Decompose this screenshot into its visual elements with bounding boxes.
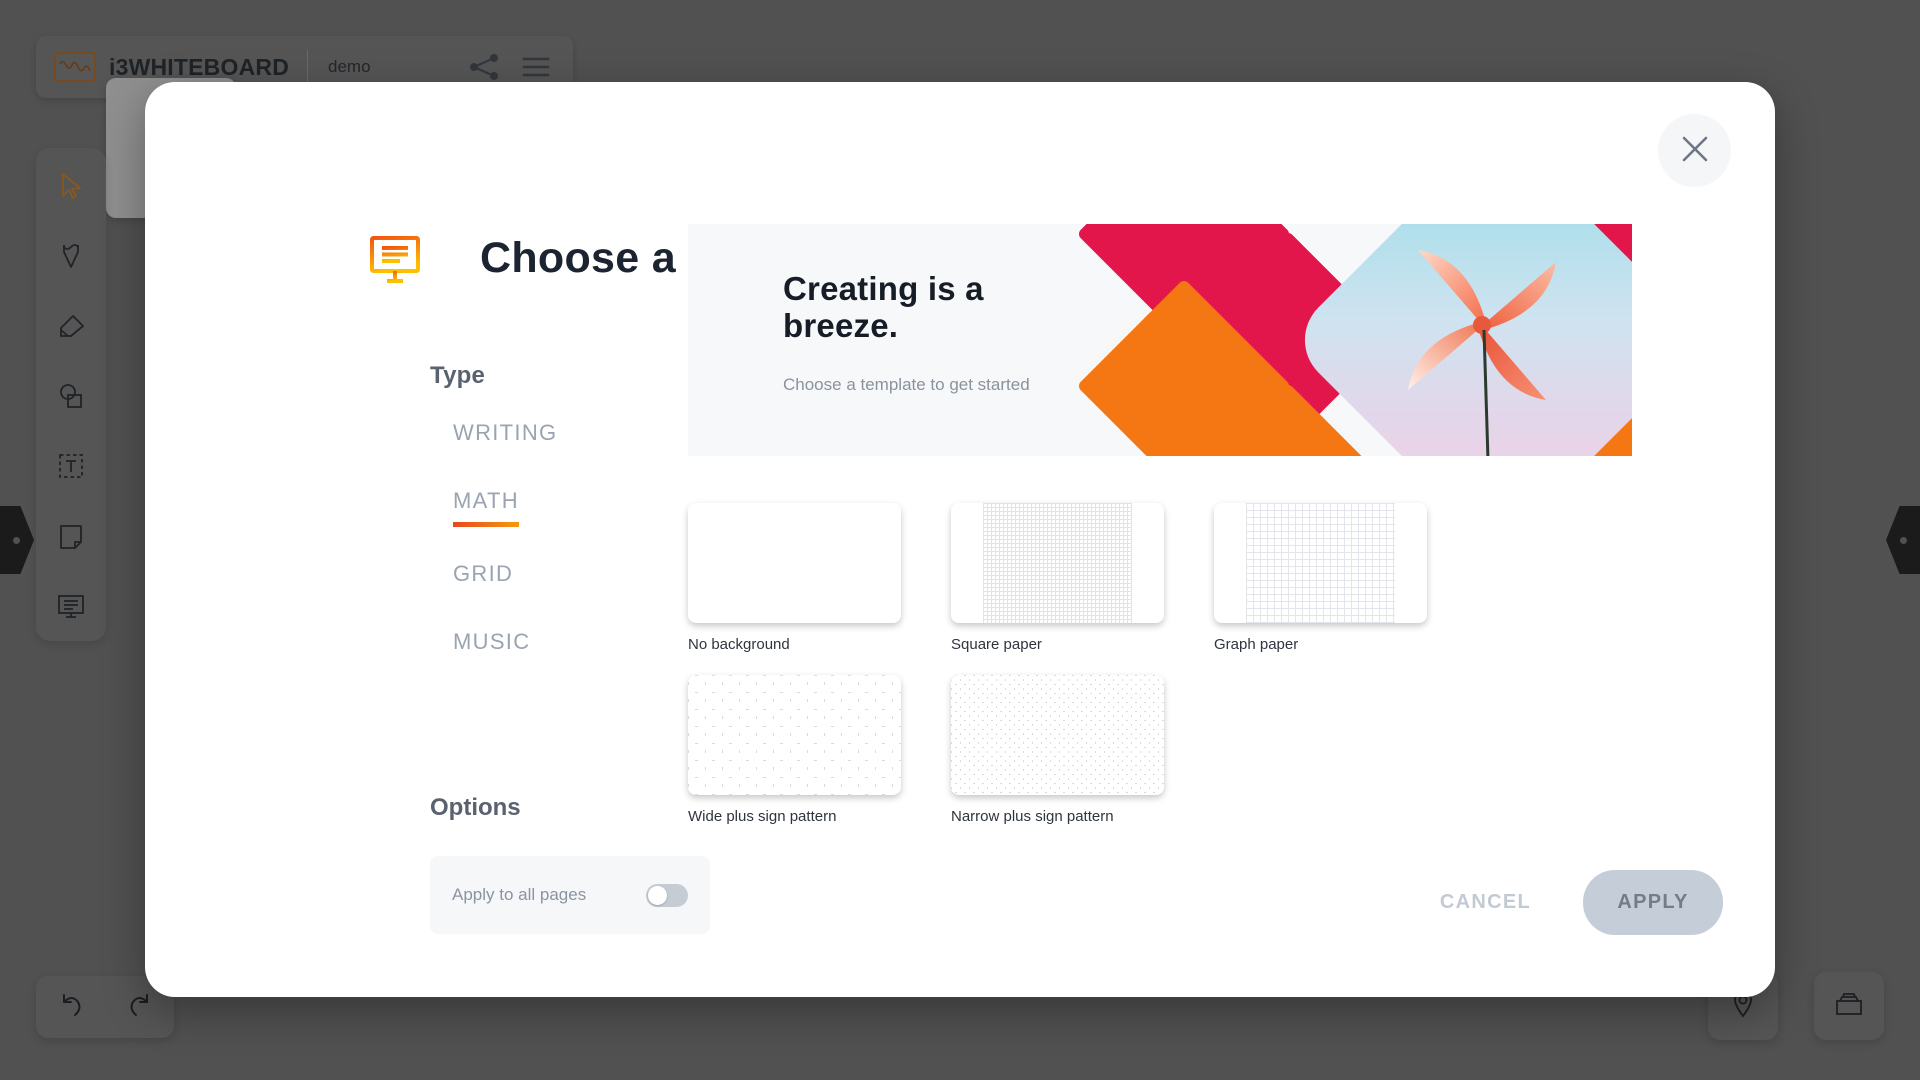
template-cell: Square paper <box>951 503 1164 653</box>
type-list: WRITING MATH GRID MUSIC <box>145 420 565 663</box>
screen: i3WHITEBOARD demo <box>0 0 1920 1080</box>
type-item-math[interactable]: MATH <box>453 488 519 527</box>
templates-panel: Creating is a breeze. Choose a template … <box>688 224 1688 847</box>
pattern-area <box>1246 503 1395 623</box>
template-label: Graph paper <box>1214 636 1427 653</box>
template-label: Wide plus sign pattern <box>688 808 901 825</box>
template-label: Square paper <box>951 636 1164 653</box>
promo-banner: Creating is a breeze. Choose a template … <box>688 224 1632 456</box>
template-cell: Wide plus sign pattern <box>688 675 901 825</box>
template-cell: Narrow plus sign pattern <box>951 675 1164 825</box>
template-label: No background <box>688 636 901 653</box>
close-x-icon <box>1678 132 1712 169</box>
dialog-footer: CANCEL APPLY <box>1416 870 1723 935</box>
choose-flavor-dialog: Choose a flavor Type WRITING MATH GRID M… <box>145 82 1775 997</box>
apply-button[interactable]: APPLY <box>1583 870 1723 935</box>
presentation-screen-icon <box>368 234 422 291</box>
template-narrow-plus-sign[interactable] <box>951 675 1164 795</box>
banner-subtitle: Choose a template to get started <box>783 374 1043 397</box>
pinwheel-graphic <box>1388 232 1578 456</box>
template-cell: Graph paper <box>1214 503 1427 653</box>
pattern-area <box>688 675 901 795</box>
apply-to-all-pages-label: Apply to all pages <box>452 885 586 905</box>
template-label: Narrow plus sign pattern <box>951 808 1164 825</box>
type-section: Type WRITING MATH GRID MUSIC <box>145 362 565 697</box>
pattern-area <box>951 675 1164 795</box>
template-cell: No background <box>688 503 901 653</box>
cancel-button[interactable]: CANCEL <box>1416 875 1555 930</box>
type-item-grid[interactable]: GRID <box>453 561 513 595</box>
template-no-background[interactable] <box>688 503 901 623</box>
pattern-area <box>983 503 1132 623</box>
template-square-paper[interactable] <box>951 503 1164 623</box>
banner-title: Creating is a breeze. <box>783 271 1073 345</box>
type-heading: Type <box>430 362 565 390</box>
toggle-knob <box>648 886 667 905</box>
apply-to-all-pages-row: Apply to all pages <box>430 856 710 934</box>
apply-to-all-pages-toggle[interactable] <box>646 884 688 907</box>
options-section: Options Apply to all pages <box>145 794 765 934</box>
close-button[interactable] <box>1658 114 1731 187</box>
template-graph-paper[interactable] <box>1214 503 1427 623</box>
type-item-writing[interactable]: WRITING <box>453 420 557 454</box>
template-grid: No background Square paper Graph paper <box>688 503 1648 847</box>
template-wide-plus-sign[interactable] <box>688 675 901 795</box>
type-item-music[interactable]: MUSIC <box>453 629 530 663</box>
